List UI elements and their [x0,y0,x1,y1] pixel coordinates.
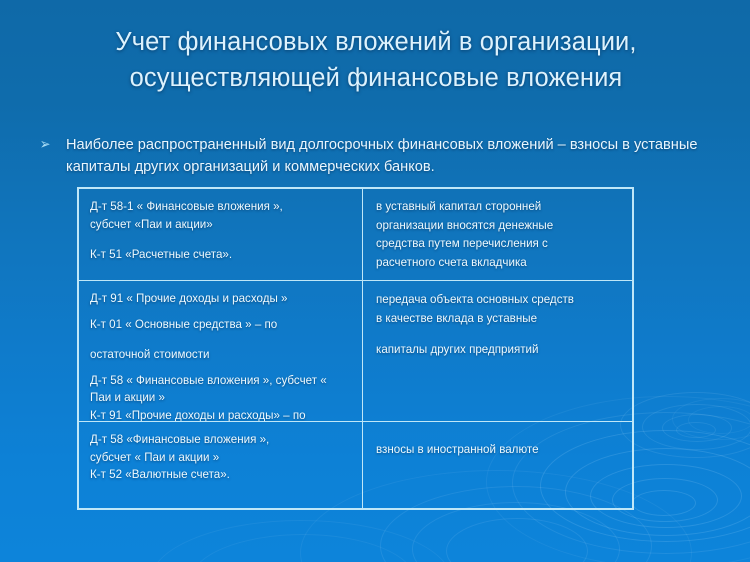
description-line: в качестве вклада в уставные [376,310,622,329]
presentation-slide: Учет финансовых вложений в организации, … [0,0,750,562]
table-cell-description: в уставный капитал сторонней организации… [363,189,632,280]
table-cell-entry: Д-т 58-1 « Финансовые вложения », субсче… [79,189,363,280]
table-cell-entry: Д-т 91 « Прочие доходы и расходы » К-т 0… [79,281,363,421]
description-line: в уставный капитал сторонней [376,198,622,217]
entry-line: Д-т 58-1 « Финансовые вложения », [90,198,352,216]
description-line: взносы в иностранной валюте [376,441,622,460]
entry-line: К-т 91 «Прочие доходы и расходы» – по [90,407,352,422]
ripple-ring [446,518,588,562]
entry-line: Д-т 58 «Финансовые вложения », [90,431,352,449]
entry-line: Д-т 91 « Прочие доходы и расходы » [90,290,352,308]
table-row: Д-т 91 « Прочие доходы и расходы » К-т 0… [79,281,632,422]
ripple-ring [412,502,620,562]
ripple-ring [662,414,732,442]
description-line: расчетного счета вкладчика [376,254,622,273]
table-row: Д-т 58-1 « Финансовые вложения », субсче… [79,189,632,281]
entry-line: К-т 01 « Основные средства » – по [90,316,352,334]
description-line: передача объекта основных средств [376,291,622,310]
ripple-ring [620,392,750,458]
entry-line: остаточной стоимости [90,346,352,364]
description-line: организации вносятся денежные [376,217,622,236]
entry-line: Паи и акции » [90,389,352,407]
ripple-ring [688,406,750,434]
table-cell-entry: Д-т 58 «Финансовые вложения », субсчет «… [79,422,363,508]
entry-line: К-т 51 «Расчетные счета». [90,246,352,264]
ripple-ring [672,398,750,440]
ripple-ring [190,534,416,562]
ripple-ring [632,490,696,516]
ripple-ring [150,520,452,562]
bullet-paragraph: ➢ Наиболее распространенный вид долгосро… [34,134,718,178]
bullet-text: Наиболее распространенный вид долгосрочн… [66,134,718,178]
entry-line: Д-т 58 « Финансовые вложения », субсчет … [90,372,352,390]
table-cell-description: передача объекта основных средств в каче… [363,281,632,421]
ripple-ring [676,422,716,438]
slide-title: Учет финансовых вложений в организации, … [46,24,706,96]
table-cell-description: взносы в иностранной валюте [363,422,632,508]
entry-line: субсчет «Паи и акции» [90,216,352,234]
entry-line: субсчет « Паи и акции » [90,449,352,467]
accounting-entries-table: Д-т 58-1 « Финансовые вложения », субсче… [77,187,634,510]
table-row: Д-т 58 «Финансовые вложения », субсчет «… [79,422,632,508]
description-line: средства путем перечисления с [376,235,622,254]
entry-line: К-т 52 «Валютные счета». [90,466,352,484]
ripple-ring [642,404,750,450]
description-line: капиталы других предприятий [376,341,622,360]
arrow-bullet-icon: ➢ [36,134,63,156]
